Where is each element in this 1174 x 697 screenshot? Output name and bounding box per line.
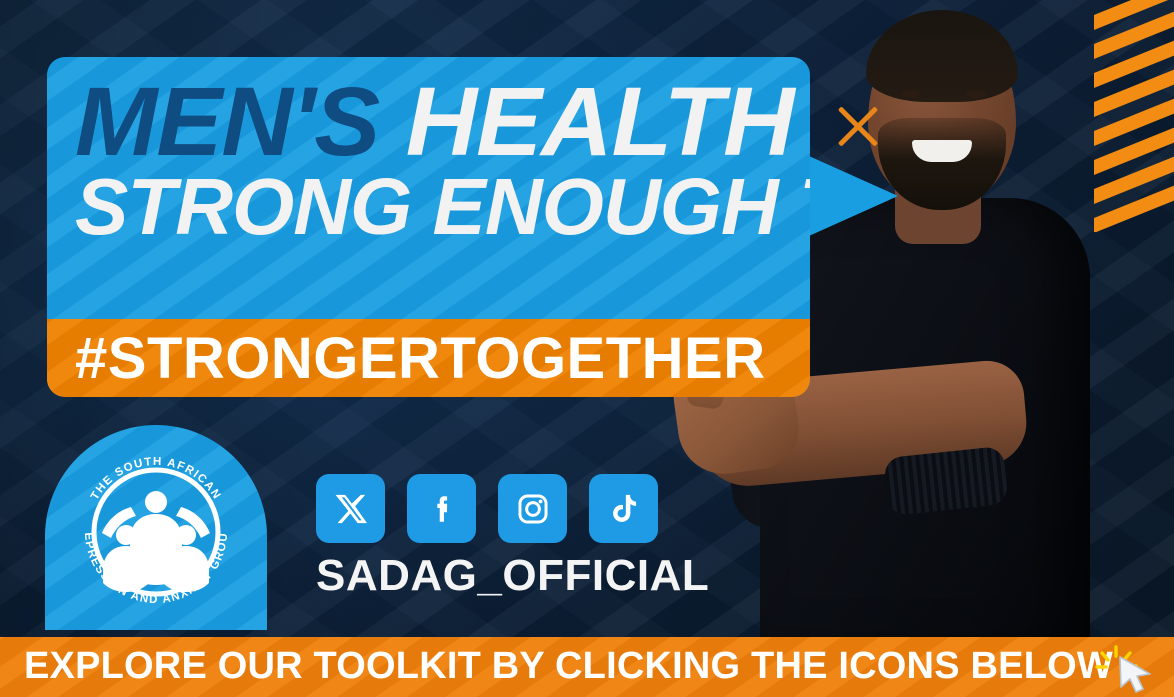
hashtag-text: #STRONGERTOGETHER — [75, 325, 766, 392]
orange-diagonal-stripes — [1094, 0, 1174, 232]
click-cursor-icon — [1092, 643, 1164, 695]
tiktok-icon — [607, 492, 641, 526]
photo-smile — [912, 140, 972, 162]
headline-line-1: MEN'S HEALTH MONTH — [75, 77, 808, 166]
cta-bar[interactable]: EXPLORE OUR TOOLKIT BY CLICKING THE ICON… — [0, 637, 1174, 697]
headline-line-2: STRONG ENOUGH TO TALK — [75, 170, 794, 244]
headline-mens: MEN'S — [75, 67, 406, 176]
cta-text: EXPLORE OUR TOOLKIT BY CLICKING THE ICON… — [24, 645, 1113, 688]
social-link-facebook[interactable] — [407, 474, 476, 543]
social-link-x-twitter[interactable] — [316, 474, 385, 543]
speech-bubble-tail — [800, 152, 898, 240]
photo-hair — [866, 10, 1018, 102]
photo-eye-left — [900, 90, 920, 98]
social-link-tiktok[interactable] — [589, 474, 658, 543]
hashtag-band: #STRONGERTOGETHER — [47, 319, 810, 397]
social-icons-row[interactable] — [316, 474, 658, 543]
sadag-logo: THE SOUTH AFRICAN DEPRESSION AND ANXIETY… — [71, 447, 241, 617]
sadag-logo-panel: THE SOUTH AFRICAN DEPRESSION AND ANXIETY… — [45, 425, 267, 630]
x-twitter-icon — [334, 492, 368, 526]
mens-health-month-banner: MEN'S HEALTH MONTH STRONG ENOUGH TO TALK… — [0, 0, 1174, 697]
sadag-people-emblem: THE SOUTH AFRICAN DEPRESSION AND ANXIETY… — [71, 447, 241, 617]
social-link-instagram[interactable] — [498, 474, 567, 543]
speech-bubble: MEN'S HEALTH MONTH STRONG ENOUGH TO TALK… — [47, 57, 810, 397]
photo-eye-right — [966, 90, 986, 98]
instagram-icon — [516, 492, 550, 526]
social-handle: SADAG_OFFICIAL — [316, 551, 709, 601]
orange-x-decoration — [832, 100, 884, 152]
headline: MEN'S HEALTH MONTH STRONG ENOUGH TO TALK — [75, 77, 794, 244]
facebook-icon — [425, 492, 459, 526]
headline-health-month: HEALTH MONTH — [406, 67, 810, 176]
